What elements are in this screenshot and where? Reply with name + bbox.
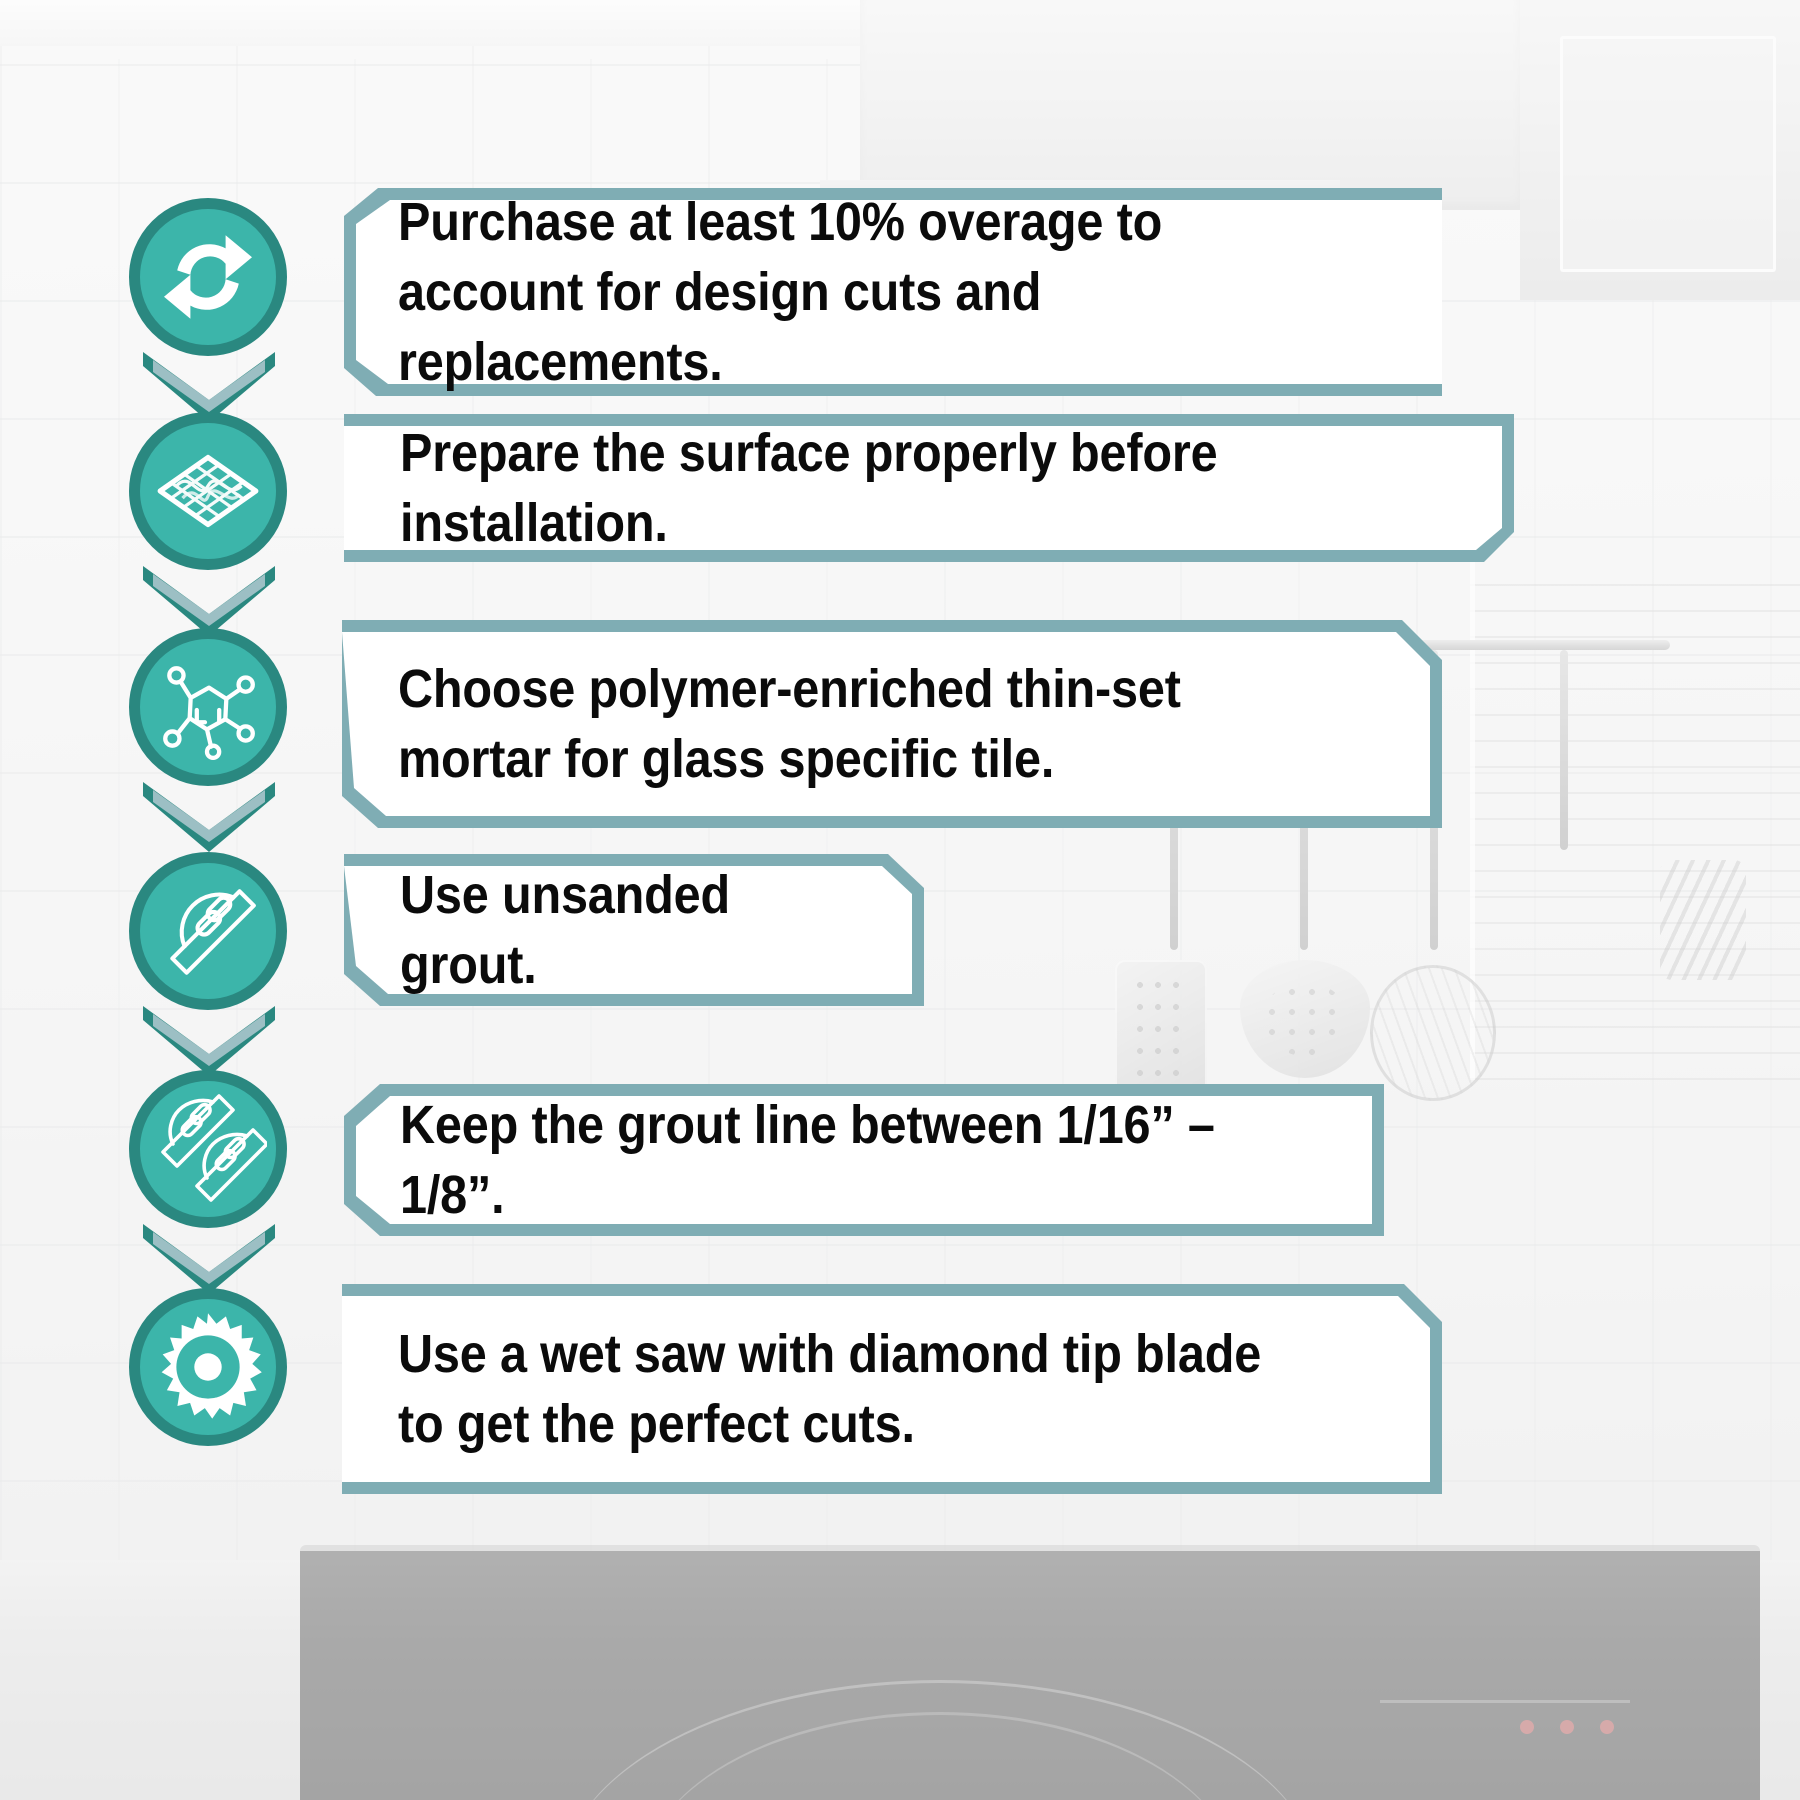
step-3-arrow-down xyxy=(143,780,275,854)
double-grout-float-icon xyxy=(129,1070,287,1228)
step-2-arrow-down xyxy=(143,564,275,638)
step-4-icon-circle[interactable] xyxy=(129,852,287,1010)
step-1-text: Purchase at least 10% overage to account… xyxy=(398,188,1296,396)
surface-grid-icon xyxy=(129,412,287,570)
step-1-callout[interactable]: Purchase at least 10% overage to account… xyxy=(342,188,1442,396)
step-2-callout[interactable]: Prepare the surface properly before inst… xyxy=(344,414,1514,562)
step-6-icon-circle[interactable] xyxy=(129,1288,287,1446)
step-5-callout[interactable]: Keep the grout line between 1/16” – 1/8”… xyxy=(344,1084,1384,1236)
step-2-icon-circle[interactable] xyxy=(129,412,287,570)
refresh-arrows-icon xyxy=(129,198,287,356)
step-5-text: Keep the grout line between 1/16” – 1/8”… xyxy=(400,1084,1244,1236)
grout-float-icon xyxy=(129,852,287,1010)
steps-list: Purchase at least 10% overage to account… xyxy=(0,0,1800,1800)
step-5-icon-circle[interactable] xyxy=(129,1070,287,1228)
step-3-text: Choose polymer-enriched thin-set mortar … xyxy=(398,620,1296,828)
step-6-text: Use a wet saw with diamond tip blade to … xyxy=(398,1284,1296,1494)
infographic-canvas: Purchase at least 10% overage to account… xyxy=(0,0,1800,1800)
step-3-icon-circle[interactable] xyxy=(129,628,287,786)
step-4-callout[interactable]: Use unsanded grout. xyxy=(344,854,924,1006)
step-3-callout[interactable]: Choose polymer-enriched thin-set mortar … xyxy=(342,620,1442,828)
step-5-arrow-down xyxy=(143,1222,275,1296)
step-6-callout[interactable]: Use a wet saw with diamond tip blade to … xyxy=(342,1284,1442,1494)
step-1-icon-circle[interactable] xyxy=(129,198,287,356)
polymer-molecule-icon xyxy=(129,628,287,786)
saw-blade-icon xyxy=(129,1288,287,1446)
step-4-arrow-down xyxy=(143,1004,275,1078)
step-2-text: Prepare the surface properly before inst… xyxy=(400,414,1361,562)
step-4-text: Use unsanded grout. xyxy=(400,854,830,1006)
